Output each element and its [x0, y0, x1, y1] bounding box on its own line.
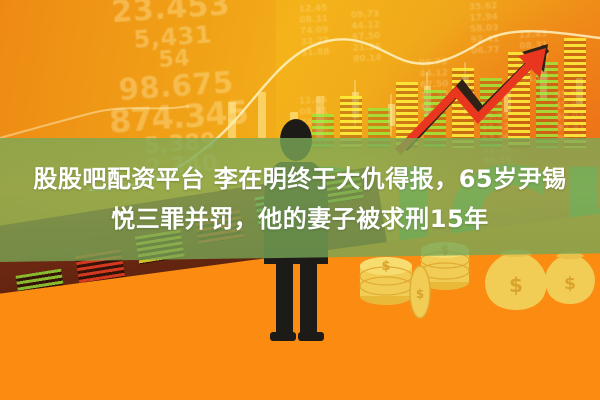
- headline-line-2: 悦三罪并罚，他的妻子被求刑15年: [111, 199, 488, 239]
- headline-line-1: 股股吧配资平台 李在明终于大仇得报，65岁尹锡: [33, 159, 566, 199]
- headline-text: 股股吧配资平台 李在明终于大仇得报，65岁尹锡 悦三罪并罚，他的妻子被求刑15年: [0, 139, 600, 259]
- thumbnail-image: 23.453 5,431 54 98.675 874.345 5,389 2,3…: [0, 0, 600, 400]
